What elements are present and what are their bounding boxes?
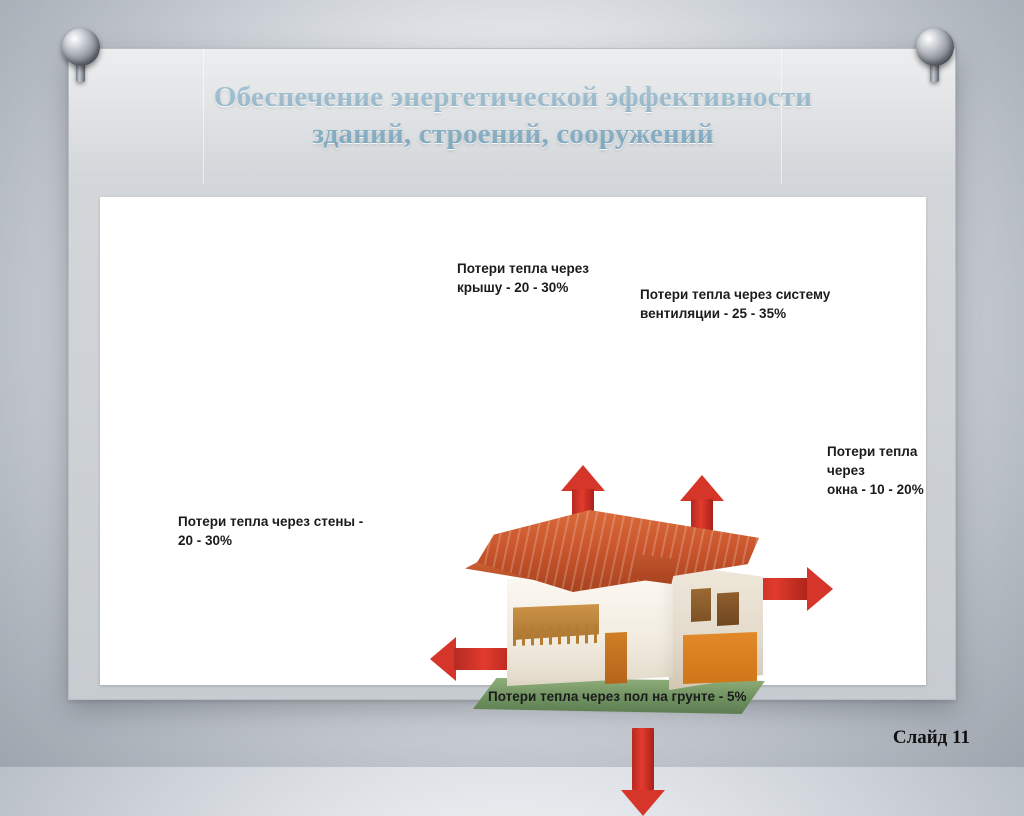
label-heat-loss-walls: Потери тепла через стены - 20 - 30% <box>178 512 428 550</box>
arrow-head <box>561 465 605 491</box>
diagram-panel: Потери тепла через крышу - 20 - 30% Поте… <box>100 197 926 685</box>
house-balcony-railing <box>513 624 601 646</box>
label-heat-loss-floor: Потери тепла через пол на грунте - 5% <box>488 687 746 706</box>
house-door <box>605 632 627 684</box>
arrow-head <box>621 790 665 816</box>
house-window-right <box>717 592 739 626</box>
page-title: Обеспечение энергетической эффективности… <box>189 79 837 153</box>
label-heat-loss-roof: Потери тепла через крышу - 20 - 30% <box>457 259 589 297</box>
pin-head <box>62 28 100 66</box>
label-heat-loss-windows: Потери тепла через окна - 10 - 20% <box>827 442 926 499</box>
arrow-head <box>807 567 833 611</box>
pin-head <box>916 28 954 66</box>
arrow-head <box>430 637 456 681</box>
pushpin-icon-left <box>58 28 104 84</box>
slide-number: Слайд 11 <box>893 727 970 749</box>
slide-board: Обеспечение энергетической эффективности… <box>68 48 956 700</box>
house-illustration <box>455 492 785 752</box>
house-dormer <box>631 554 677 584</box>
pushpin-icon-right <box>912 28 958 84</box>
house-garage-door <box>683 632 757 684</box>
house-window-left <box>691 588 711 622</box>
label-heat-loss-ventilation: Потери тепла через систему вентиляции - … <box>640 285 830 323</box>
